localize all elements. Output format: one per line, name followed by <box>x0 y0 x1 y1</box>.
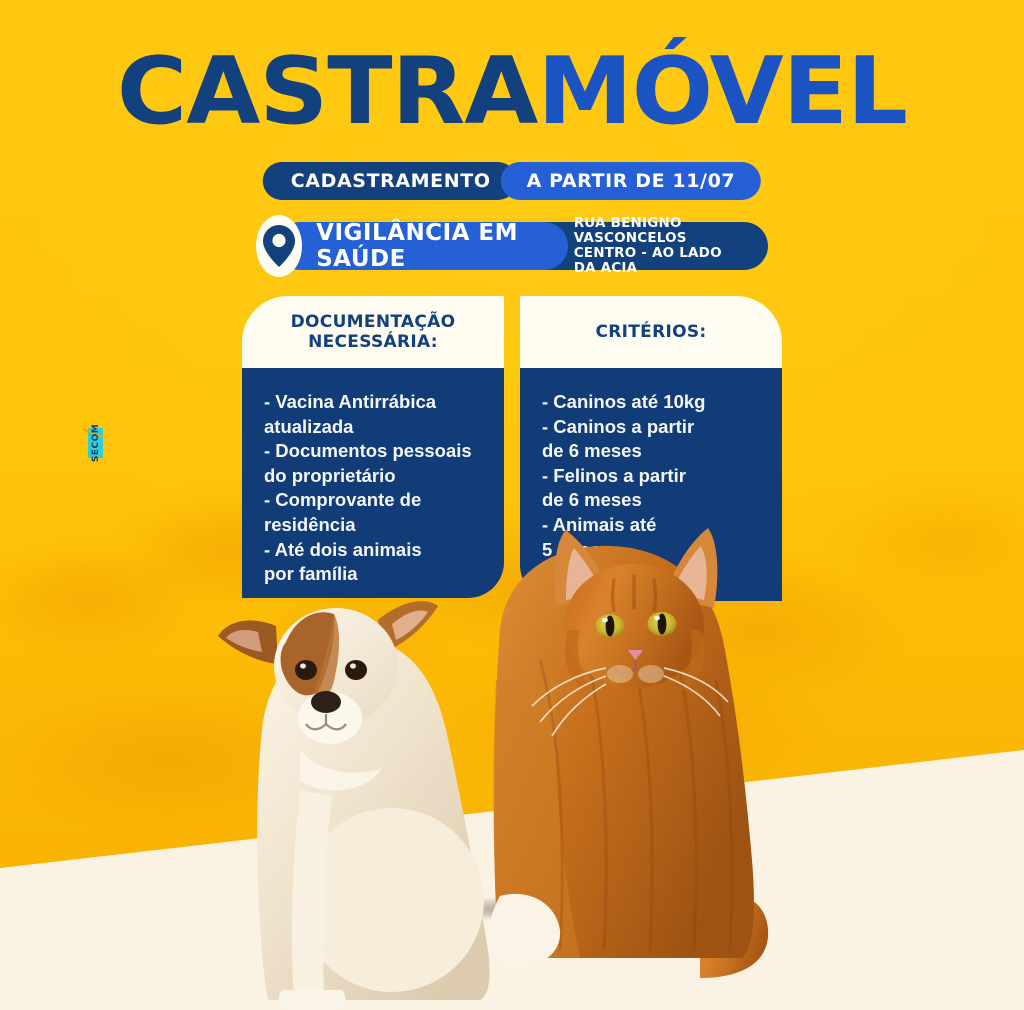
list-item: - Caninos até 10kg <box>542 390 768 415</box>
animal-photos <box>0 430 1024 1010</box>
poster-title: CASTRAMÓVEL <box>0 45 1024 138</box>
location-address: RUA BENIGNO VASCONCELOS CENTRO - AO LADO… <box>540 222 768 270</box>
castramovel-poster: CASTRAMÓVEL CADASTRAMENTO A PARTIR DE 11… <box>0 0 1024 1010</box>
list-item: - Vacina Antirrábica <box>264 390 490 415</box>
card-documentacao-heading: DOCUMENTAÇÃO NECESSÁRIA: <box>242 296 504 368</box>
location-place-label: VIGILÂNCIA EM SAÚDE <box>276 222 568 270</box>
card-criterios-heading: CRITÉRIOS: <box>520 296 782 368</box>
location-pin-icon <box>262 224 296 268</box>
card-documentacao-heading-line1: DOCUMENTAÇÃO <box>291 313 456 333</box>
card-criterios-heading-line1: CRITÉRIOS: <box>595 323 706 343</box>
registration-date-badge: A PARTIR DE 11/07 <box>501 162 762 200</box>
location-pin-badge <box>256 215 302 277</box>
address-line-1: RUA BENIGNO VASCONCELOS <box>574 216 742 246</box>
title-part-castra: CASTRA <box>117 37 537 145</box>
registration-label: CADASTRAMENTO <box>263 162 517 200</box>
location-bar: VIGILÂNCIA EM SAÚDE RUA BENIGNO VASCONCE… <box>256 215 768 277</box>
card-documentacao-heading-line2: NECESSÁRIA: <box>291 333 456 353</box>
address-line-2: CENTRO - AO LADO DA ACIA <box>574 246 742 276</box>
registration-bar: CADASTRAMENTO A PARTIR DE 11/07 <box>263 162 761 200</box>
title-part-movel: MÓVEL <box>537 37 907 145</box>
